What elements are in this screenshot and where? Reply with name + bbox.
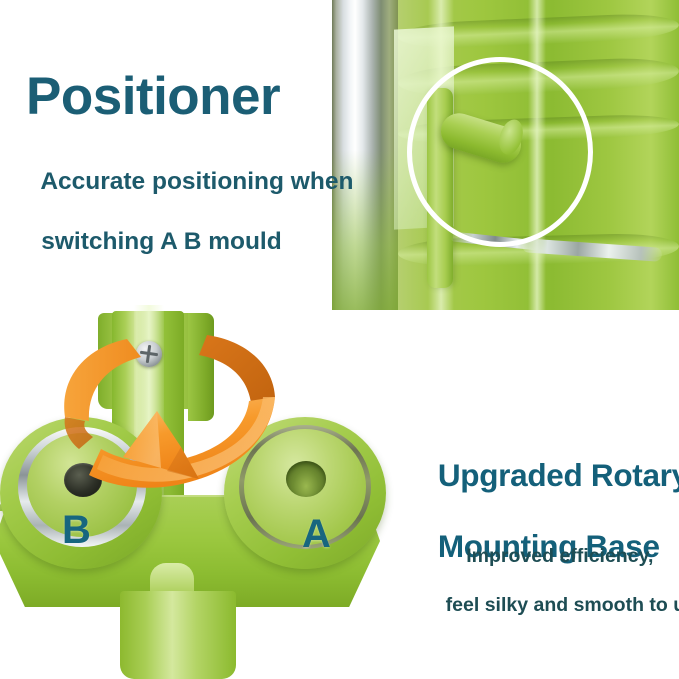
positioner-heading: Positioner — [26, 70, 280, 123]
rotary-base-photo — [0, 305, 394, 679]
mould-disc-b-hub — [64, 463, 102, 497]
positioner-subtext-line2: switching A B mould — [41, 228, 281, 255]
mould-disc-a-hole — [286, 461, 326, 497]
positioner-subtext-line1: Accurate positioning when — [40, 168, 353, 195]
mould-disc-a-label: A — [302, 512, 331, 557]
collar-edge — [188, 313, 214, 421]
highlight-circle-annotation — [407, 57, 593, 247]
rotary-subtext-line1: Improved efficiency, — [466, 545, 653, 567]
positioner-closeup-photo — [332, 0, 679, 310]
base-stem — [120, 591, 236, 679]
rotary-base-subtext: Improved efficiency, feel silky and smoo… — [424, 520, 674, 642]
rotary-heading-line1: Upgraded Rotary — [438, 457, 679, 493]
rotary-subtext-line2: feel silky and smooth to use — [446, 594, 679, 616]
infographic-canvas: Positioner Accurate positioning when swi… — [0, 0, 679, 679]
mould-disc-b-label: B — [62, 508, 91, 553]
positioner-subtext: Accurate positioning when switching A B … — [14, 137, 353, 286]
